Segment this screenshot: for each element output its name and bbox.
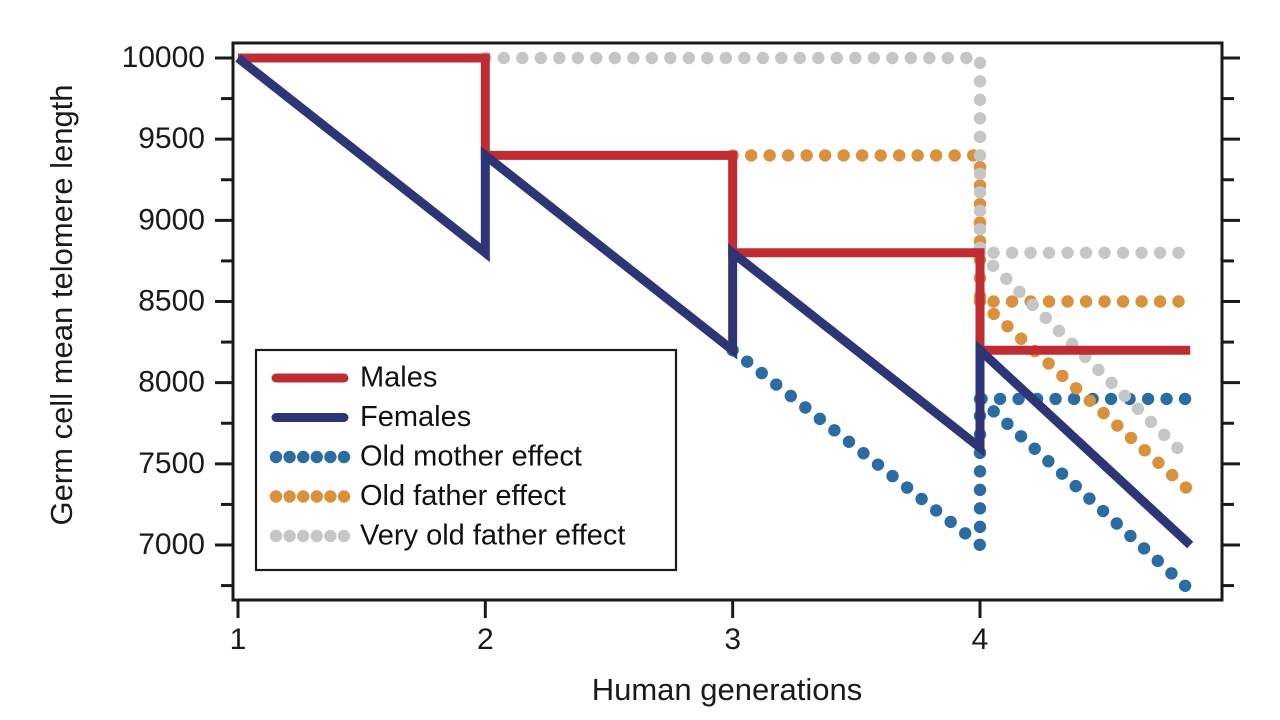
series-dot <box>974 112 986 124</box>
series-dot <box>775 52 787 64</box>
series-dot <box>782 149 794 161</box>
series-dot <box>1056 370 1068 382</box>
series-dot <box>1006 247 1018 259</box>
series-dot <box>1013 286 1025 298</box>
series-dot <box>794 52 806 64</box>
series-dot <box>1097 505 1109 517</box>
series-dot <box>1098 295 1110 307</box>
series-dot <box>1042 357 1054 369</box>
legend-swatch-dot-icon <box>283 490 295 502</box>
series-dot <box>930 149 942 161</box>
y-axis-tick-label-7000: 7000 <box>138 528 205 561</box>
x-axis-tick-label-2: 2 <box>477 623 494 656</box>
series-dot <box>1092 364 1104 376</box>
series-dot <box>988 308 1000 320</box>
series-dot <box>1061 247 1073 259</box>
legend-item-label: Males <box>360 362 437 394</box>
series-dot <box>915 493 927 505</box>
x-axis-title: Human generations <box>592 672 863 707</box>
series-dot <box>1152 555 1164 567</box>
series-dot <box>1152 457 1164 469</box>
series-dot <box>1070 382 1082 394</box>
legend-swatch-dot-icon <box>324 451 336 463</box>
series-dot <box>1180 481 1192 493</box>
series-dot <box>819 149 831 161</box>
series-dot <box>1105 393 1117 405</box>
series-dot <box>974 75 986 87</box>
series-dot <box>1043 247 1055 259</box>
series-dot <box>1083 492 1095 504</box>
series-dot <box>770 378 782 390</box>
series-dot <box>720 52 732 64</box>
series-dot <box>1015 333 1027 345</box>
series-dot <box>872 458 884 470</box>
series-dot <box>1154 247 1166 259</box>
series-dot <box>1040 312 1052 324</box>
series-dot <box>987 405 999 417</box>
series-dot <box>799 401 811 413</box>
series-dot <box>843 436 855 448</box>
series-dot <box>1053 325 1065 337</box>
series-dot <box>763 149 775 161</box>
series-dot <box>974 502 986 514</box>
series-dot <box>911 149 923 161</box>
series-dot <box>1117 295 1129 307</box>
series-dot <box>1001 320 1013 332</box>
series-dot <box>856 149 868 161</box>
series-dot <box>974 484 986 496</box>
legend-swatch-dot-icon <box>270 490 282 502</box>
series-dot <box>590 52 602 64</box>
series-dot <box>974 149 986 161</box>
series-dot <box>1080 295 1092 307</box>
legend-swatch-dot-icon <box>311 490 323 502</box>
series-dot <box>800 149 812 161</box>
series-dot <box>1043 295 1055 307</box>
series-dot <box>974 465 986 477</box>
series-dot <box>646 52 658 64</box>
series-dot <box>1029 443 1041 455</box>
series-dot <box>1119 390 1131 402</box>
series-dot <box>857 447 869 459</box>
series-dot <box>886 470 898 482</box>
legend-item-label: Very old father effect <box>360 520 625 552</box>
x-axis-tick-label-3: 3 <box>724 623 741 656</box>
series-dot <box>1001 418 1013 430</box>
series-dot <box>974 131 986 143</box>
legend-swatch-dot-icon <box>338 490 350 502</box>
series-dot <box>987 295 999 307</box>
legend-swatch-dot-icon <box>270 530 282 542</box>
series-dot <box>948 149 960 161</box>
series-dot <box>959 527 971 539</box>
y-axis-tick-label-10000: 10000 <box>122 41 205 74</box>
y-axis-tick-label-9500: 9500 <box>138 122 205 155</box>
series-dot <box>1160 393 1172 405</box>
series-dot <box>1068 393 1080 405</box>
series-dot <box>942 52 954 64</box>
series-dot <box>987 260 999 272</box>
legend-swatch-dot-icon <box>311 530 323 542</box>
series-dot <box>960 52 972 64</box>
series-dot <box>849 52 861 64</box>
series-dot <box>974 223 986 235</box>
series-dot <box>1098 247 1110 259</box>
series-dot <box>974 521 986 533</box>
series-dot <box>609 52 621 64</box>
series-dot <box>831 52 843 64</box>
series-dot <box>1015 430 1027 442</box>
legend-swatch-dot-icon <box>338 451 350 463</box>
legend-swatch-dot-icon <box>297 530 309 542</box>
series-dot <box>1179 393 1191 405</box>
series-dot <box>828 424 840 436</box>
series-dot <box>1049 393 1061 405</box>
series-dot <box>974 94 986 106</box>
legend-swatch-dot-icon <box>283 451 295 463</box>
series-dot <box>893 149 905 161</box>
series-dot <box>905 52 917 64</box>
legend-item-label: Old father effect <box>360 480 566 512</box>
y-axis-tick-label-8000: 8000 <box>138 366 205 399</box>
series-dot <box>1158 429 1170 441</box>
series-dot <box>498 52 510 64</box>
series-dot <box>785 390 797 402</box>
y-axis-tick-label-9000: 9000 <box>138 203 205 236</box>
y-axis-tick-label-8500: 8500 <box>138 284 205 317</box>
series-dot <box>944 516 956 528</box>
series-dot <box>1105 377 1117 389</box>
series-dot <box>745 149 757 161</box>
series-dot <box>901 481 913 493</box>
chart-legend: MalesFemalesOld mother effectOld father … <box>256 350 676 570</box>
series-dot <box>1056 467 1068 479</box>
series-dot <box>1165 567 1177 579</box>
series-dot <box>814 413 826 425</box>
series-dot <box>738 52 750 64</box>
series-dot <box>1172 295 1184 307</box>
series-dot <box>1000 273 1012 285</box>
series-dot <box>1097 407 1109 419</box>
series-dot <box>974 168 986 180</box>
series-dot <box>1061 295 1073 307</box>
legend-swatch-dot-icon <box>270 451 282 463</box>
series-dot <box>1084 395 1096 407</box>
series-dot <box>1124 530 1136 542</box>
series-dot <box>535 52 547 64</box>
series-dot <box>756 367 768 379</box>
series-dot <box>994 393 1006 405</box>
series-dot <box>1117 247 1129 259</box>
series-dot <box>1026 299 1038 311</box>
series-dot <box>664 52 676 64</box>
y-axis-title: Germ cell mean telomere length <box>44 84 79 525</box>
series-dot <box>701 52 713 64</box>
series-dot <box>1139 444 1151 456</box>
series-dot <box>1070 480 1082 492</box>
series-dot <box>974 57 986 69</box>
series-dot <box>874 149 886 161</box>
series-dot <box>553 52 565 64</box>
series-dot <box>1135 295 1147 307</box>
series-dot <box>1138 542 1150 554</box>
series-dot <box>1166 469 1178 481</box>
telomere-length-chart: 100009500900085008000750070001234 Human … <box>0 0 1280 720</box>
legend-item-label: Old mother effect <box>360 441 582 473</box>
x-axis-tick-label-4: 4 <box>972 623 989 656</box>
series-dot <box>1179 580 1191 592</box>
figure-container: 100009500900085008000750070001234 Human … <box>0 0 1280 720</box>
series-dot <box>923 52 935 64</box>
series-dot <box>974 186 986 198</box>
series-dot <box>1080 247 1092 259</box>
series-dot <box>1171 442 1183 454</box>
series-dot <box>868 52 880 64</box>
series-dot <box>1042 455 1054 467</box>
series-dot <box>516 52 528 64</box>
series-dot <box>1024 247 1036 259</box>
x-axis-tick-label-1: 1 <box>230 623 247 656</box>
series-dot <box>1172 247 1184 259</box>
series-dot <box>1132 403 1144 415</box>
legend-swatch-dot-icon <box>297 451 309 463</box>
series-dot <box>1135 247 1147 259</box>
series-dot <box>757 52 769 64</box>
series-dot <box>683 52 695 64</box>
series-dot <box>974 205 986 217</box>
series-dot <box>572 52 584 64</box>
series-dot <box>974 539 986 551</box>
series-dot <box>930 504 942 516</box>
series-dot <box>1145 416 1157 428</box>
series-dot <box>627 52 639 64</box>
series-dot <box>1125 432 1137 444</box>
series-dot <box>987 247 999 259</box>
legend-item-label: Females <box>360 401 471 433</box>
series-dot <box>1111 419 1123 431</box>
legend-swatch-dot-icon <box>324 490 336 502</box>
legend-swatch-dot-icon <box>338 530 350 542</box>
series-dot <box>1154 295 1166 307</box>
y-axis-tick-label-7500: 7500 <box>138 447 205 480</box>
series-dot <box>837 149 849 161</box>
legend-swatch-dot-icon <box>283 530 295 542</box>
series-dot <box>1142 393 1154 405</box>
legend-swatch-dot-icon <box>297 490 309 502</box>
legend-swatch-dot-icon <box>311 451 323 463</box>
series-dot <box>1111 517 1123 529</box>
legend-swatch-dot-icon <box>324 530 336 542</box>
series-dot <box>741 355 753 367</box>
series-dot <box>886 52 898 64</box>
series-dot <box>812 52 824 64</box>
